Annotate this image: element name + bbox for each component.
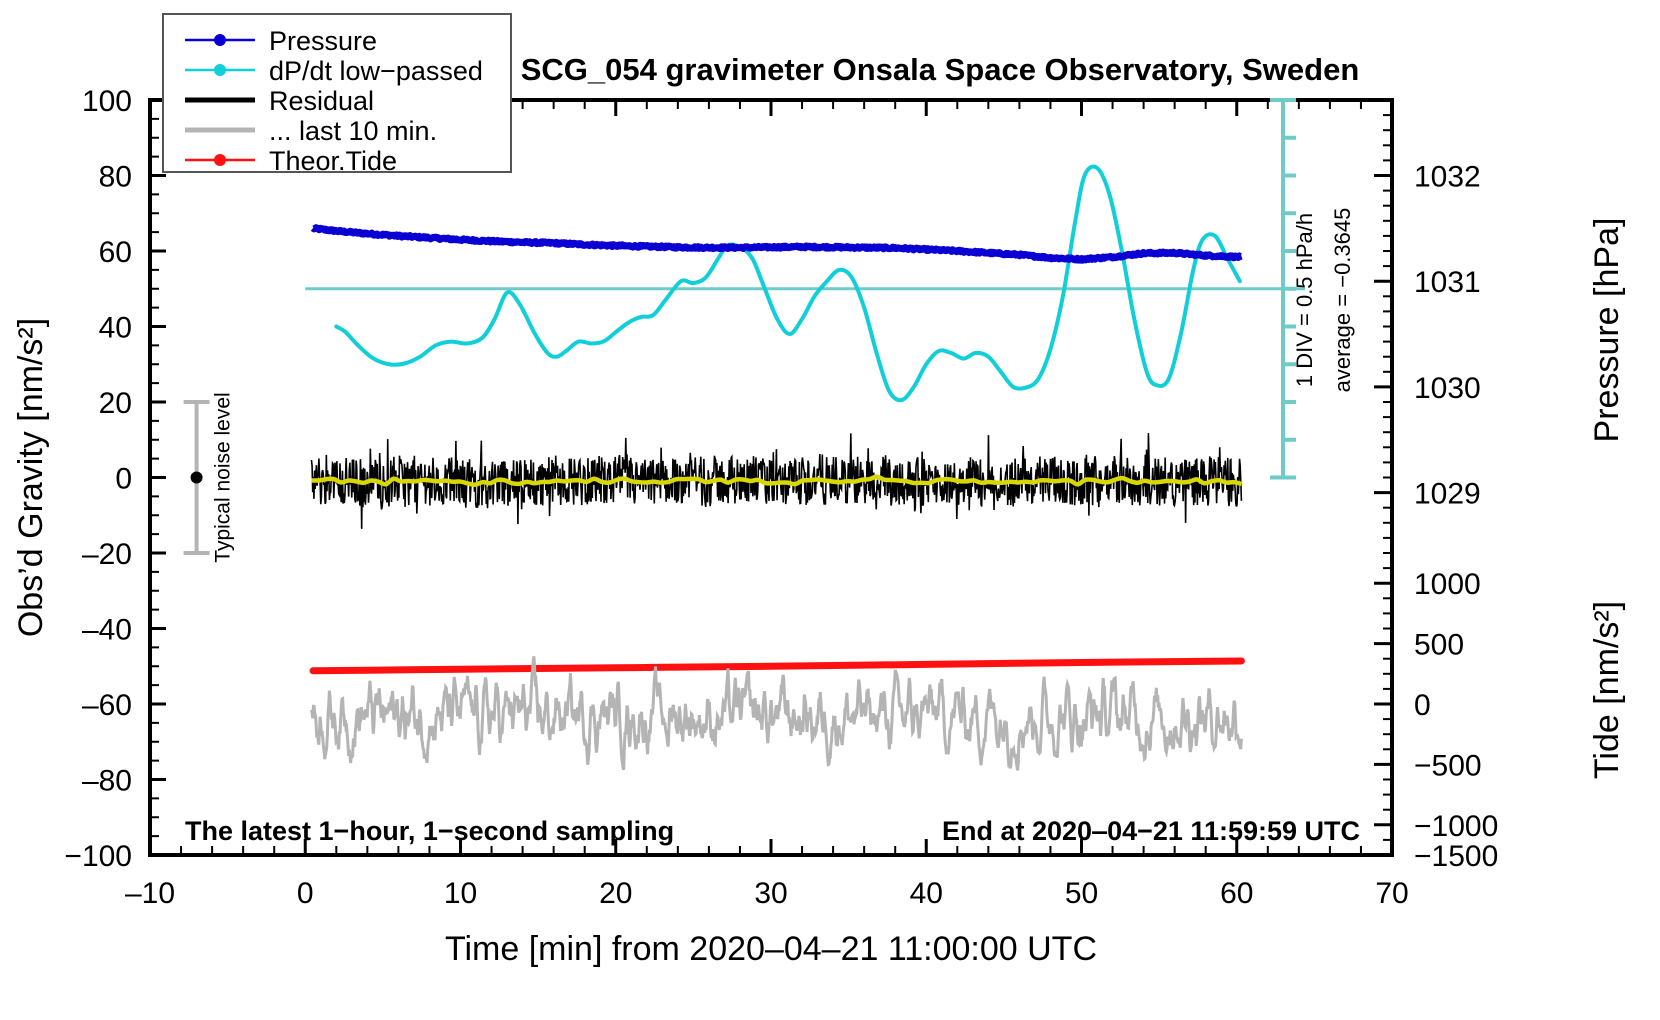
y-tick-label-0: 100 — [82, 85, 132, 118]
chart-canvas: ‒10010203040506070100806040200‒20‒40‒60‒… — [0, 0, 1660, 1020]
y-tick-label-7: ‒40 — [82, 614, 132, 647]
right-bottom-axis-title: Tide [nm/s²] — [1588, 601, 1626, 779]
right-pressure-tick-label-2: 1030 — [1414, 372, 1481, 405]
right-pressure-tick-label-3: 1029 — [1414, 478, 1481, 511]
legend-label-2: Residual — [269, 86, 374, 116]
legend-label-3: ... last 10 min. — [269, 116, 437, 146]
right-pressure-tick-label-1: 1031 — [1414, 266, 1481, 299]
tide-curve — [313, 661, 1241, 671]
dpdt-curve — [336, 167, 1240, 401]
right-tide-tick-label-4: −1000 — [1414, 810, 1498, 843]
gravimeter-chart-page: ‒10010203040506070100806040200‒20‒40‒60‒… — [0, 0, 1660, 1020]
x-tick-label-6: 50 — [1065, 877, 1098, 910]
right-top-axis-title: Pressure [hPa] — [1588, 218, 1626, 443]
x-tick-label-5: 40 — [910, 877, 943, 910]
y-tick-label-1: 80 — [99, 161, 132, 194]
x-tick-label-2: 10 — [444, 877, 477, 910]
legend-label-1: dP/dt low−passed — [269, 56, 483, 86]
legend-marker-0 — [214, 34, 226, 46]
right-tide-tick-label-2: 0 — [1414, 689, 1431, 722]
dpdt-average-note: average = −0.3645 — [1330, 208, 1355, 393]
y-tick-label-9: ‒80 — [82, 765, 132, 798]
y-tick-label-3: 40 — [99, 312, 132, 345]
last10-curve — [311, 656, 1241, 770]
x-tick-label-4: 30 — [754, 877, 787, 910]
y-tick-label-2: 60 — [99, 236, 132, 269]
pressure-curve — [313, 228, 1241, 261]
y-tick-label-10: −100 — [64, 840, 132, 873]
right-tide-tick-label-5: −1500 — [1414, 840, 1498, 873]
y-tick-label-6: ‒20 — [82, 538, 132, 571]
x-axis-title: Time [min] from 2020‒04‒21 11:00:00 UTC — [445, 930, 1097, 968]
legend-label-0: Pressure — [269, 26, 377, 56]
y-tick-label-8: ‒60 — [82, 689, 132, 722]
right-pressure-tick-label-0: 1032 — [1414, 161, 1481, 194]
x-tick-label-7: 60 — [1220, 877, 1253, 910]
footer-right-text: End at 2020‒04−21 11:59:59 UTC — [942, 816, 1360, 846]
noise-center-dot — [191, 472, 203, 484]
right-tide-tick-label-3: −500 — [1414, 749, 1482, 782]
x-tick-label-8: 70 — [1375, 877, 1408, 910]
legend-marker-1 — [214, 64, 226, 76]
chart-title: SCG_054 gravimeter Onsala Space Observat… — [521, 52, 1360, 87]
dpdt-div-note: 1 DIV = 0.5 hPa/h — [1292, 213, 1317, 387]
right-tide-tick-label-1: 500 — [1414, 629, 1464, 662]
x-tick-label-1: 0 — [297, 877, 314, 910]
y-axis-title: Obs’d Gravity [nm/s²] — [12, 318, 50, 637]
footer-left-text: The latest 1−hour, 1−second sampling — [185, 816, 674, 846]
y-tick-label-5: 0 — [115, 463, 132, 496]
legend-marker-4 — [214, 154, 226, 166]
x-tick-label-0: ‒10 — [125, 877, 175, 910]
right-tide-tick-label-0: 1000 — [1414, 568, 1481, 601]
legend-label-4: Theor.Tide — [269, 146, 397, 176]
y-tick-label-4: 20 — [99, 387, 132, 420]
noise-level-label: Typical noise level — [212, 392, 235, 562]
x-tick-label-3: 20 — [599, 877, 632, 910]
